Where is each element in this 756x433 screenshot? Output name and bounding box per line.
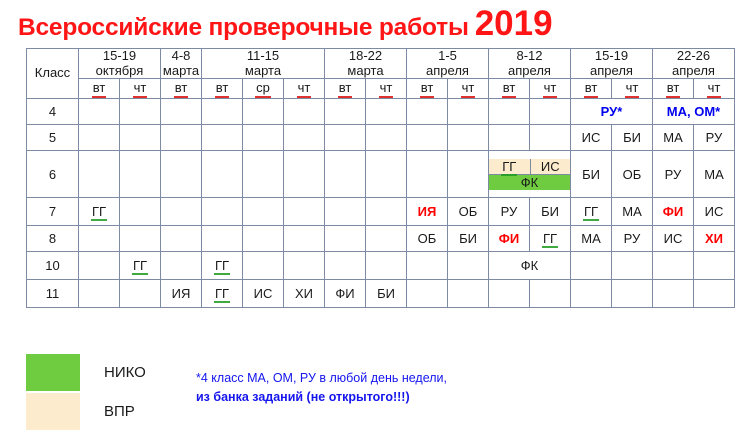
- footnote-line-1: *4 класс МА, ОМ, РУ в любой день недели,: [196, 369, 447, 388]
- cell-empty-4-5[interactable]: [243, 99, 284, 125]
- cell-text: ФК: [521, 258, 538, 273]
- cell-text: РУ: [501, 204, 518, 219]
- cell-empty-6-1[interactable]: [79, 151, 120, 198]
- cell-text: ГГ: [215, 258, 229, 273]
- cell-11-3[interactable]: ИЯ: [161, 280, 202, 308]
- header-day-label: чт: [708, 81, 721, 96]
- cell-empty-4-2[interactable]: [120, 99, 161, 125]
- header-day-3-1: вт: [202, 79, 243, 99]
- cell-empty-7-7[interactable]: [325, 198, 366, 226]
- cell-is[interactable]: ИС: [530, 159, 571, 174]
- cell-empty-8-8[interactable]: [366, 226, 407, 252]
- cell-text: ИС: [582, 130, 601, 145]
- cell-empty-10-10[interactable]: [448, 252, 489, 280]
- cell-empty-10-6[interactable]: [284, 252, 325, 280]
- cell-empty-4-4[interactable]: [202, 99, 243, 125]
- header-day-7-1: вт: [571, 79, 612, 99]
- cell-8-10[interactable]: БИ: [448, 226, 489, 252]
- header-day-label: вт: [421, 81, 434, 96]
- cell-empty-8-3[interactable]: [161, 226, 202, 252]
- cell-text: МА: [704, 167, 724, 182]
- table-row: 4РУ*МА, ОМ*: [27, 99, 735, 125]
- cell-empty-4-6[interactable]: [284, 99, 325, 125]
- header-day-label: вт: [503, 81, 516, 96]
- cell-text: ФИ: [335, 286, 354, 301]
- cell-empty-7-2[interactable]: [120, 198, 161, 226]
- header-week-6: 8-12апреля: [489, 49, 571, 79]
- header-day-5-2: чт: [448, 79, 489, 99]
- cell-empty-6-8[interactable]: [366, 151, 407, 198]
- header-week-1: 15-19октября: [79, 49, 161, 79]
- header-week-month: апреля: [571, 64, 652, 79]
- cell-empty-6-5[interactable]: [243, 151, 284, 198]
- header-week-month: апреля: [489, 64, 570, 79]
- cell-empty-5-10[interactable]: [448, 125, 489, 151]
- page-title-year: 2019: [475, 4, 553, 43]
- cell-empty-10-5[interactable]: [243, 252, 284, 280]
- cell-11-5[interactable]: ИС: [243, 280, 284, 308]
- header-week-range: 4-8: [161, 49, 201, 64]
- cell-empty-8-7[interactable]: [325, 226, 366, 252]
- cell-7-12[interactable]: БИ: [530, 198, 571, 226]
- legend-item-niko: НИКО: [26, 353, 146, 392]
- header-week-range: 8-12: [489, 49, 570, 64]
- header-day-label: чт: [462, 81, 475, 96]
- header-week-month: марта: [325, 64, 406, 79]
- cell-empty-6-9[interactable]: [407, 151, 448, 198]
- table-row: 8ОББИФИГГМАРУИСХИ: [27, 226, 735, 252]
- cell-text: РУ: [706, 130, 723, 145]
- cell-empty-10-14[interactable]: [612, 252, 653, 280]
- cell-11-8[interactable]: БИ: [366, 280, 407, 308]
- cell-empty-11-1[interactable]: [79, 280, 120, 308]
- cell-empty-8-5[interactable]: [243, 226, 284, 252]
- cell-empty-4-7[interactable]: [325, 99, 366, 125]
- cell-text: ОБ: [459, 204, 478, 219]
- cell-empty-11-2[interactable]: [120, 280, 161, 308]
- row-label-class-11: 11: [27, 280, 79, 308]
- cell-empty-7-3[interactable]: [161, 198, 202, 226]
- header-week-range: 15-19: [571, 49, 652, 64]
- cell-empty-6-2[interactable]: [120, 151, 161, 198]
- header-day-2-1: вт: [161, 79, 202, 99]
- header-day-4-1: вт: [325, 79, 366, 99]
- cell-empty-11-13[interactable]: [571, 280, 612, 308]
- cell-7-10[interactable]: ОБ: [448, 198, 489, 226]
- header-day-3-3: чт: [284, 79, 325, 99]
- cell-empty-4-9[interactable]: [407, 99, 448, 125]
- cell-text: БИ: [541, 204, 559, 219]
- cell-empty-5-11[interactable]: [489, 125, 530, 151]
- cell-empty-11-14[interactable]: [612, 280, 653, 308]
- table-header: Класс 15-19октября4-8марта11-15марта18-2…: [27, 49, 735, 99]
- cell-gg[interactable]: ГГ: [489, 159, 530, 174]
- cell-empty-11-10[interactable]: [448, 280, 489, 308]
- cell-6-14[interactable]: ОБ: [612, 151, 653, 198]
- row-label-class-4: 4: [27, 99, 79, 125]
- table-row: 10ГГГГФК: [27, 252, 735, 280]
- cell-empty-4-8[interactable]: [366, 99, 407, 125]
- cell-empty-5-2[interactable]: [120, 125, 161, 151]
- footnote-line-2: из банка заданий (не открытого!!!): [196, 388, 447, 407]
- cell-empty-10-1[interactable]: [79, 252, 120, 280]
- header-week-month: апреля: [407, 64, 488, 79]
- cell-empty-10-7[interactable]: [325, 252, 366, 280]
- header-day-7-2: чт: [612, 79, 653, 99]
- cell-empty-6-6[interactable]: [284, 151, 325, 198]
- header-week-month: апреля: [653, 64, 734, 79]
- cell-empty-4-1[interactable]: [79, 99, 120, 125]
- table-row: 11ИЯГГИСХИФИБИ: [27, 280, 735, 308]
- legend-label-niko: НИКО: [104, 364, 146, 381]
- cell-empty-5-8[interactable]: [366, 125, 407, 151]
- cell-8-14[interactable]: РУ: [612, 226, 653, 252]
- header-day-5-1: вт: [407, 79, 448, 99]
- cell-text: ОБ: [418, 231, 437, 246]
- header-day-label: чт: [134, 81, 147, 96]
- cell-text: ОБ: [623, 167, 642, 182]
- header-week-2: 4-8марта: [161, 49, 202, 79]
- cell-8-15[interactable]: ИС: [653, 226, 694, 252]
- cell-empty-8-4[interactable]: [202, 226, 243, 252]
- row-label-class-7: 7: [27, 198, 79, 226]
- cell-text: ГГ: [584, 204, 598, 219]
- header-week-4: 18-22марта: [325, 49, 407, 79]
- cell-empty-6-10[interactable]: [448, 151, 489, 198]
- cell-10-2[interactable]: ГГ: [120, 252, 161, 280]
- cell-text: МА, ОМ*: [667, 104, 720, 119]
- cell-text: БИ: [623, 130, 641, 145]
- cell-empty-11-15[interactable]: [653, 280, 694, 308]
- cell-empty-7-6[interactable]: [284, 198, 325, 226]
- legend-item-vpr: ВПР: [26, 392, 146, 431]
- cell-empty-5-6[interactable]: [284, 125, 325, 151]
- legend-label-vpr: ВПР: [104, 403, 135, 420]
- table-row: 6ГГИСФКБИОБРУМА: [27, 151, 735, 198]
- cell-empty-8-2[interactable]: [120, 226, 161, 252]
- cell-empty-5-1[interactable]: [79, 125, 120, 151]
- cell-text: ХИ: [295, 286, 313, 301]
- header-day-3-2: ср: [243, 79, 284, 99]
- cell-empty-6-4[interactable]: [202, 151, 243, 198]
- cell-6-13[interactable]: БИ: [571, 151, 612, 198]
- cell-text: ГГ: [215, 286, 229, 301]
- cell-empty-5-12[interactable]: [530, 125, 571, 151]
- cell-11-6[interactable]: ХИ: [284, 280, 325, 308]
- cell-7-13[interactable]: ГГ: [571, 198, 612, 226]
- header-week-range: 22-26: [653, 49, 734, 64]
- legend-swatch-vpr: [26, 393, 80, 430]
- row-label-class-6: 6: [27, 151, 79, 198]
- cell-empty-5-5[interactable]: [243, 125, 284, 151]
- cell-text: БИ: [459, 231, 477, 246]
- cell-text: МА: [581, 231, 601, 246]
- cell-4-15[interactable]: МА, ОМ*: [653, 99, 735, 125]
- cell-10-4[interactable]: ГГ: [202, 252, 243, 280]
- header-day-label: вт: [667, 81, 680, 96]
- cell-text: ФК: [521, 175, 538, 190]
- header-week-range: 18-22: [325, 49, 406, 64]
- cell-empty-10-8[interactable]: [366, 252, 407, 280]
- cell-empty-4-10[interactable]: [448, 99, 489, 125]
- header-week-month: марта: [202, 64, 324, 79]
- cell-empty-11-16[interactable]: [694, 280, 735, 308]
- cell-empty-5-7[interactable]: [325, 125, 366, 151]
- header-day-6-2: чт: [530, 79, 571, 99]
- cell-empty-10-9[interactable]: [407, 252, 448, 280]
- cell-empty-5-4[interactable]: [202, 125, 243, 151]
- header-row-weeks: Класс 15-19октября4-8марта11-15марта18-2…: [27, 49, 735, 79]
- header-day-label: вт: [175, 81, 188, 96]
- footnote: *4 класс МА, ОМ, РУ в любой день недели,…: [196, 369, 447, 408]
- cell-7-16[interactable]: ИС: [694, 198, 735, 226]
- cell-6-15[interactable]: РУ: [653, 151, 694, 198]
- cell-empty-8-6[interactable]: [284, 226, 325, 252]
- cell-8-9[interactable]: ОБ: [407, 226, 448, 252]
- table-row: 7ГГИЯОБРУБИГГМАФИИС: [27, 198, 735, 226]
- header-week-month: марта: [161, 64, 201, 79]
- cell-text: ГГ: [133, 258, 147, 273]
- header-day-label: вт: [216, 81, 229, 96]
- cell-11-4[interactable]: ГГ: [202, 280, 243, 308]
- cell-text: МА: [663, 130, 683, 145]
- cell-text: ФИ: [663, 204, 683, 219]
- header-day-8-1: вт: [653, 79, 694, 99]
- header-day-label: чт: [626, 81, 639, 96]
- cell-text: БИ: [377, 286, 395, 301]
- cell-empty-11-9[interactable]: [407, 280, 448, 308]
- header-week-8: 22-26апреля: [653, 49, 735, 79]
- cell-text: ГГ: [502, 159, 516, 174]
- header-day-label: вт: [93, 81, 106, 96]
- cell-7-9[interactable]: ИЯ: [407, 198, 448, 226]
- cell-empty-11-11[interactable]: [489, 280, 530, 308]
- cell-empty-6-7[interactable]: [325, 151, 366, 198]
- cell-text: МА: [622, 204, 642, 219]
- row-label-class-5: 5: [27, 125, 79, 151]
- cell-5-13[interactable]: ИС: [571, 125, 612, 151]
- legend-swatch-niko: [26, 354, 80, 391]
- cell-text: РУ*: [601, 104, 623, 119]
- cell-text: ХИ: [705, 231, 723, 246]
- cell-empty-4-11[interactable]: [489, 99, 530, 125]
- row-label-class-10: 10: [27, 252, 79, 280]
- header-day-1-1: вт: [79, 79, 120, 99]
- cell-text: ИЯ: [418, 204, 437, 219]
- header-day-4-2: чт: [366, 79, 407, 99]
- cell-empty-7-5[interactable]: [243, 198, 284, 226]
- cell-empty-5-9[interactable]: [407, 125, 448, 151]
- cell-text: ИС: [705, 204, 724, 219]
- header-row-days: втчтвтвтсрчтвтчтвтчтвтчтвтчтвтчт: [27, 79, 735, 99]
- cell-6-16[interactable]: МА: [694, 151, 735, 198]
- cell-10-11[interactable]: ФК: [489, 252, 571, 280]
- cell-text: РУ: [665, 167, 682, 182]
- cell-text: ИЯ: [172, 286, 191, 301]
- header-week-5: 1-5апреля: [407, 49, 489, 79]
- cell-text: ИС: [254, 286, 273, 301]
- header-class: Класс: [27, 49, 79, 99]
- cell-empty-10-16[interactable]: [694, 252, 735, 280]
- header-day-1-2: чт: [120, 79, 161, 99]
- header-week-3: 11-15марта: [202, 49, 325, 79]
- header-day-label: чт: [380, 81, 393, 96]
- cell-text: ИС: [664, 231, 683, 246]
- cell-empty-4-3[interactable]: [161, 99, 202, 125]
- header-day-label: вт: [585, 81, 598, 96]
- header-week-month: октября: [79, 64, 160, 79]
- cell-split-gg-is-fk[interactable]: ГГИСФК: [489, 151, 571, 198]
- page-title: Всероссийские проверочные работы2019: [18, 6, 553, 41]
- cell-empty-7-8[interactable]: [366, 198, 407, 226]
- cell-text: ФИ: [499, 231, 519, 246]
- cell-fk[interactable]: ФК: [489, 174, 570, 190]
- cell-11-7[interactable]: ФИ: [325, 280, 366, 308]
- cell-empty-7-4[interactable]: [202, 198, 243, 226]
- cell-empty-5-3[interactable]: [161, 125, 202, 151]
- cell-text: ИС: [541, 159, 560, 174]
- table-body: 4РУ*МА, ОМ*5ИСБИМАРУ6ГГИСФКБИОБРУМА7ГГИЯ…: [27, 99, 735, 308]
- table-row: 5ИСБИМАРУ: [27, 125, 735, 151]
- cell-5-14[interactable]: БИ: [612, 125, 653, 151]
- cell-8-11[interactable]: ФИ: [489, 226, 530, 252]
- cell-7-14[interactable]: МА: [612, 198, 653, 226]
- cell-text: ГГ: [92, 204, 106, 219]
- cell-empty-10-3[interactable]: [161, 252, 202, 280]
- cell-text: ГГ: [543, 231, 557, 246]
- cell-8-13[interactable]: МА: [571, 226, 612, 252]
- cell-empty-8-1[interactable]: [79, 226, 120, 252]
- cell-5-15[interactable]: МА: [653, 125, 694, 151]
- header-week-7: 15-19апреля: [571, 49, 653, 79]
- header-day-8-2: чт: [694, 79, 735, 99]
- cell-8-12[interactable]: ГГ: [530, 226, 571, 252]
- cell-empty-4-12[interactable]: [530, 99, 571, 125]
- cell-empty-6-3[interactable]: [161, 151, 202, 198]
- cell-8-16[interactable]: ХИ: [694, 226, 735, 252]
- header-day-6-1: вт: [489, 79, 530, 99]
- row-label-class-8: 8: [27, 226, 79, 252]
- cell-7-11[interactable]: РУ: [489, 198, 530, 226]
- header-day-label: ср: [256, 81, 270, 96]
- cell-7-1[interactable]: ГГ: [79, 198, 120, 226]
- cell-empty-10-15[interactable]: [653, 252, 694, 280]
- header-week-range: 11-15: [202, 49, 324, 64]
- vpr-schedule-table: Класс 15-19октября4-8марта11-15марта18-2…: [26, 48, 735, 308]
- cell-text: БИ: [582, 167, 600, 182]
- cell-text: РУ: [624, 231, 641, 246]
- cell-4-13[interactable]: РУ*: [571, 99, 653, 125]
- cell-5-16[interactable]: РУ: [694, 125, 735, 151]
- page-title-main: Всероссийские проверочные работы: [18, 14, 469, 41]
- header-day-label: чт: [544, 81, 557, 96]
- legend: НИКО ВПР: [26, 353, 146, 431]
- cell-empty-10-13[interactable]: [571, 252, 612, 280]
- header-week-range: 1-5: [407, 49, 488, 64]
- header-week-range: 15-19: [79, 49, 160, 64]
- cell-empty-11-12[interactable]: [530, 280, 571, 308]
- cell-7-15[interactable]: ФИ: [653, 198, 694, 226]
- header-day-label: чт: [298, 81, 311, 96]
- header-day-label: вт: [339, 81, 352, 96]
